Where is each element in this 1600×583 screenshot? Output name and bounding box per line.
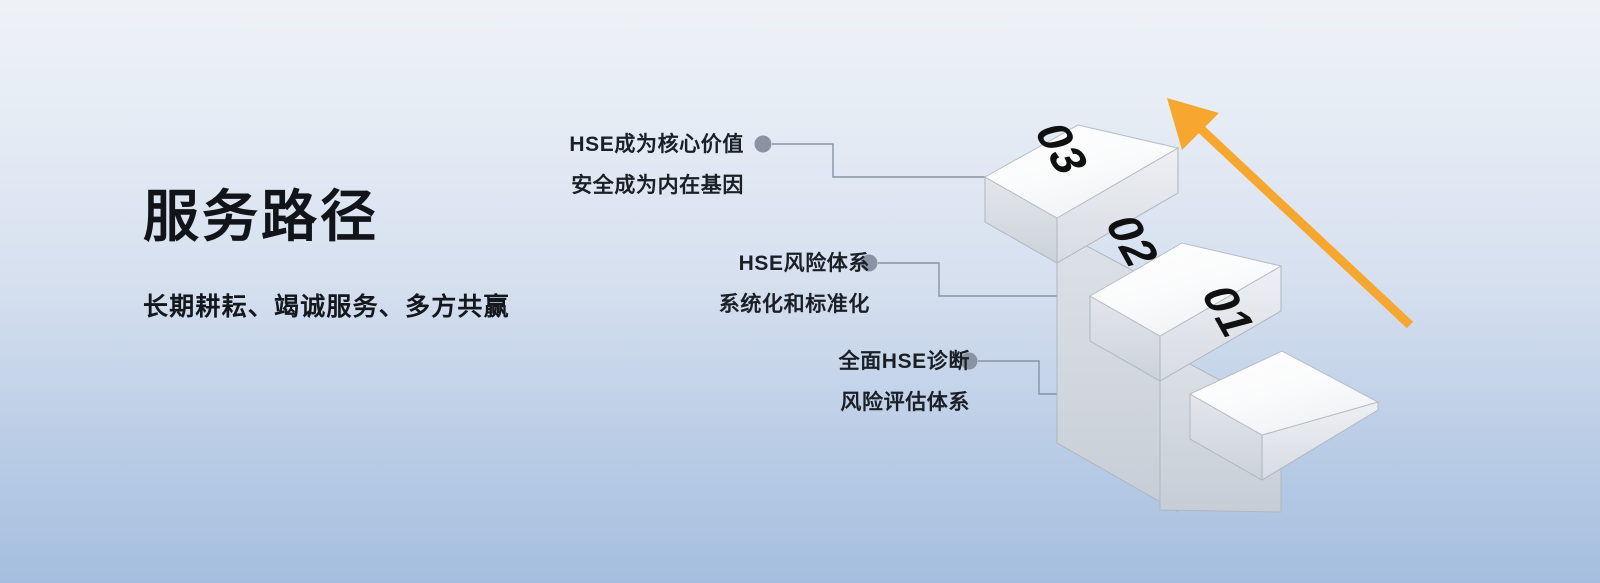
growth-arrow-shaft (1186, 115, 1410, 325)
growth-arrow-layer (0, 0, 1600, 583)
infographic-stage: 服务路径 长期耕耘、竭诚服务、多方共赢 HSE成为核心价值 安全成为内在基因 H… (0, 0, 1600, 583)
growth-arrow-icon (1167, 98, 1410, 325)
